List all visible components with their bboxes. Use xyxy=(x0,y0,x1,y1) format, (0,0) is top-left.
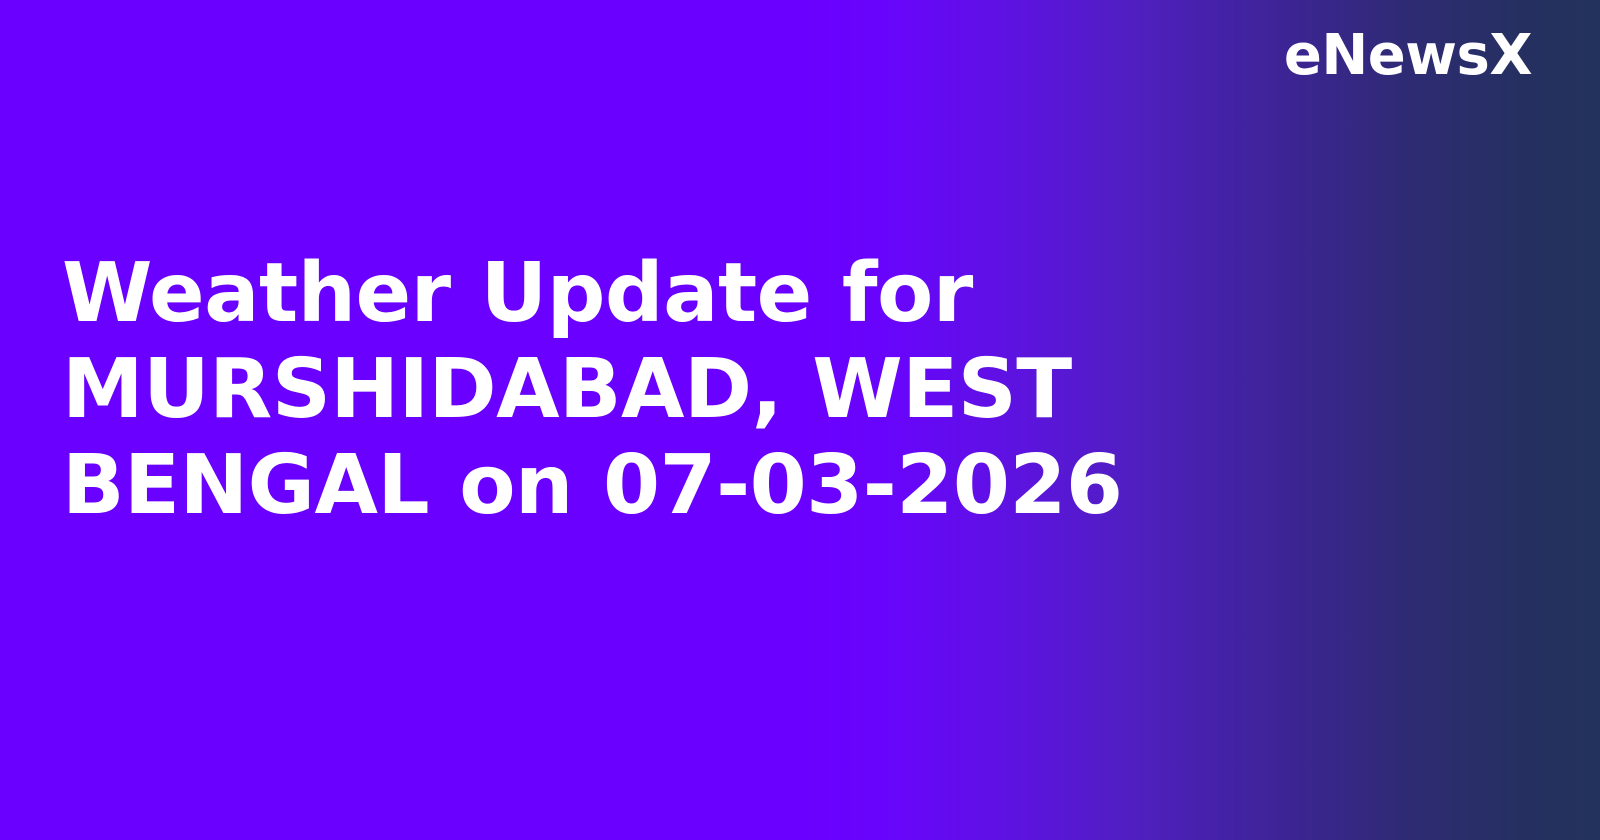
news-card: eNewsX Weather Update for MURSHIDABAD, W… xyxy=(0,0,1600,840)
headline-block: Weather Update for MURSHIDABAD, WEST BEN… xyxy=(62,246,1212,534)
brand-logo: eNewsX xyxy=(1284,28,1532,84)
page-title: Weather Update for MURSHIDABAD, WEST BEN… xyxy=(62,246,1212,534)
